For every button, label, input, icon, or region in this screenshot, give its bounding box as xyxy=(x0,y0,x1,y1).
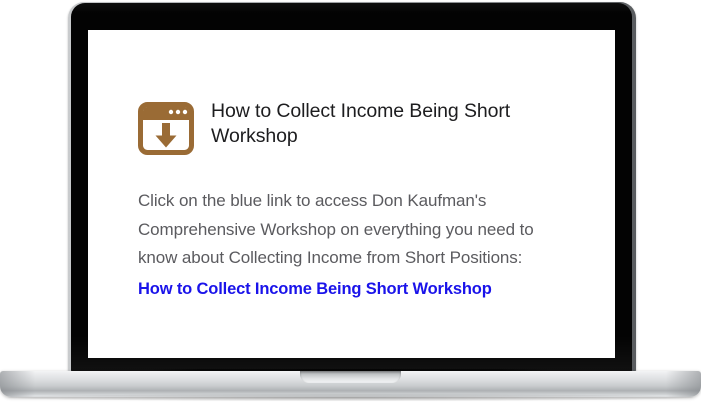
laptop-front-notch xyxy=(300,371,401,383)
header-row: How to Collect Income Being Short Worksh… xyxy=(138,98,568,155)
page-title: How to Collect Income Being Short Worksh… xyxy=(211,98,526,149)
description-paragraph: Click on the blue link to access Don Kau… xyxy=(138,187,558,273)
body-block: Click on the blue link to access Don Kau… xyxy=(138,187,568,303)
laptop-device: How to Collect Income Being Short Worksh… xyxy=(0,0,701,405)
laptop-drop-shadow xyxy=(8,394,693,401)
workshop-link[interactable]: How to Collect Income Being Short Worksh… xyxy=(138,275,492,304)
laptop-display: How to Collect Income Being Short Worksh… xyxy=(88,30,615,358)
download-window-icon xyxy=(138,102,194,155)
page-content: How to Collect Income Being Short Worksh… xyxy=(138,98,568,303)
